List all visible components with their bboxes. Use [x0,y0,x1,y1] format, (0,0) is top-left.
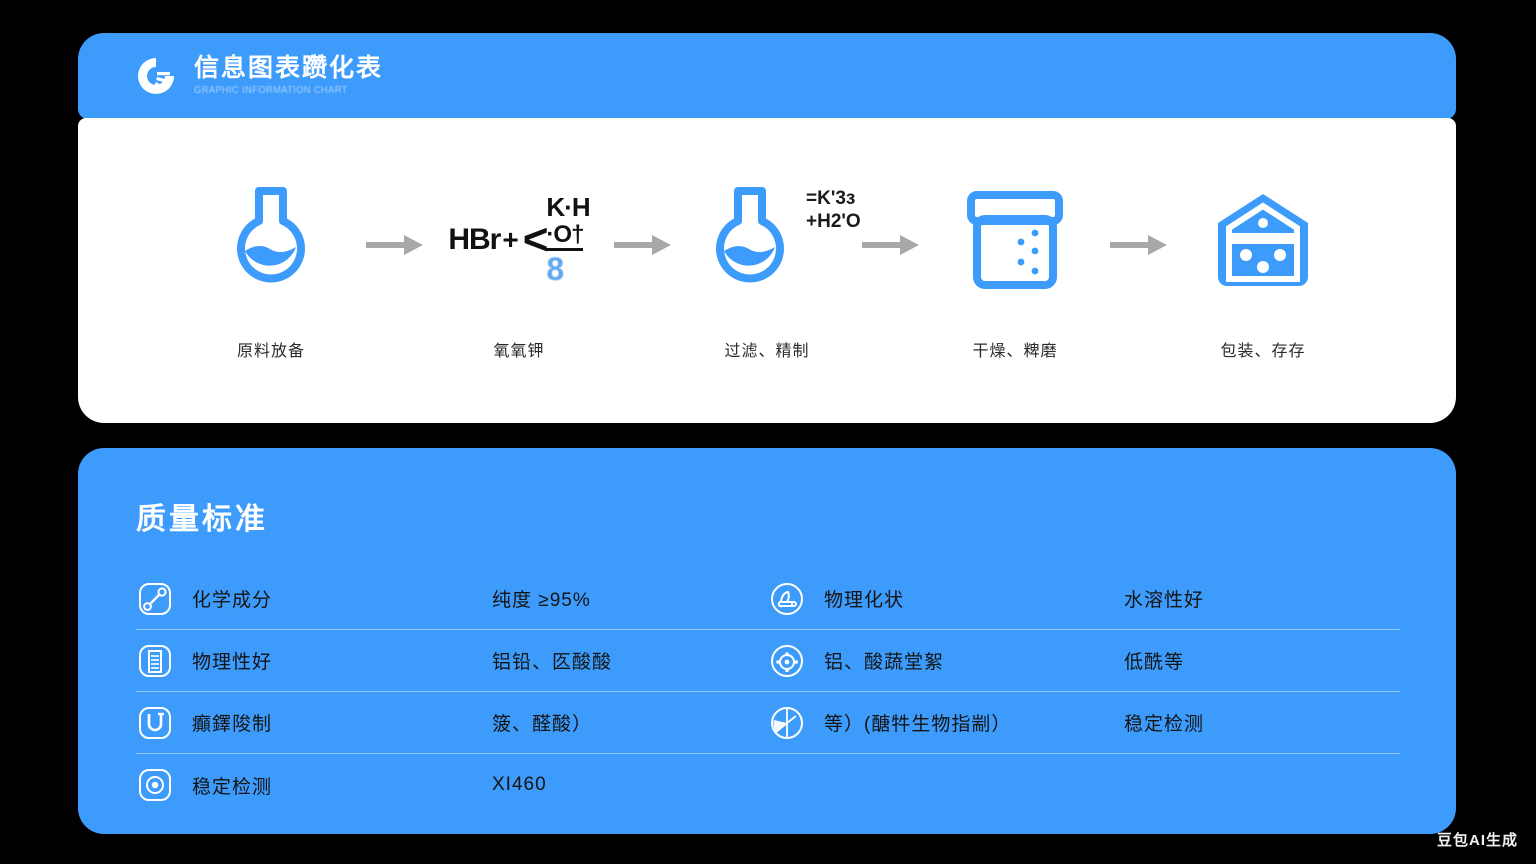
quality-standards-card: 质量标准 化学成分 纯度 ≥95% [78,448,1456,834]
drying-container-icon [963,181,1067,301]
right-arrow-icon [356,234,434,256]
quality-value: 低酰等 [1124,647,1184,674]
right-arrow-icon [604,234,682,256]
quality-key: 物理性好 [192,647,492,674]
chemical-formula-koh-icon: HBr + < K·H ·O† 8 [448,181,589,301]
quality-item: 等）(醣牪生物指剬） 稳定检测 [768,704,1400,742]
formula-brace: < [523,227,549,253]
process-flow-card: 原料放备 HBr + < K·H ·O† 8 [78,118,1456,423]
process-step-label: 包装、存存 [1220,337,1305,361]
side-formula: =K'3з +H2'O [806,187,861,233]
quality-key: 铝、酸蔬堂絮 [824,647,1124,674]
formula-hbr: HBr [448,223,500,257]
poster-root: 信息图表躜化表 GRAPHIC INFORMATION CHART 原料放备 [0,0,1536,864]
quality-key: 化学成分 [192,585,492,612]
quality-item: 稳定检测 XI460 [136,766,768,804]
target-lens-icon [136,766,174,804]
page-subtitle: GRAPHIC INFORMATION CHART [194,84,368,97]
quality-table: 化学成分 纯度 ≥95% 物理化状 水溶性好 [136,568,1400,816]
quality-value: 纯度 ≥95% [492,585,591,612]
quality-item: 物理化状 水溶性好 [768,580,1400,618]
pie-gauge-icon [768,704,806,742]
formula-plus: + [502,224,518,256]
quality-key: 物理化状 [824,585,1124,612]
quality-key: 稳定检测 [192,772,492,799]
table-row: 物理性好 铝铅、匛酸酸 [136,630,1400,692]
process-flow: 原料放备 HBr + < K·H ·O† 8 [78,118,1456,423]
formula-top: K·H [546,194,589,221]
quality-item: 物理性好 铝铅、匛酸酸 [136,642,768,680]
magnet-icon [136,704,174,742]
quality-value: 铝铅、匛酸酸 [492,647,612,674]
right-arrow-icon [852,234,930,256]
pipette-icon [136,580,174,618]
process-step: HBr + < K·H ·O† 8 氧氧钾 [434,181,604,361]
table-row: 癲鐸陖制 箥、醛酸） 等）(醣牪生物指剬） 稳定检测 [136,692,1400,754]
quality-item: 化学成分 纯度 ≥95% [136,580,768,618]
quality-key: 癲鐸陖制 [192,709,492,736]
quality-item: 癲鐸陖制 箥、醛酸） [136,704,768,742]
header-bar: 信息图表躜化表 GRAPHIC INFORMATION CHART [78,33,1456,119]
quality-item: 铝、酸蔬堂絮 低酰等 [768,642,1400,680]
side-formula-line2: +H2'O [806,211,861,232]
round-bottom-flask-icon [225,181,317,301]
formula-bottom: ·O† [546,222,583,251]
gear-beaker-icon [768,642,806,680]
process-step: 包装、存存 [1178,181,1348,361]
quality-value: 箥、醛酸） [492,709,592,736]
document-list-icon [136,642,174,680]
quality-value: XI460 [492,774,547,796]
quality-section-title: 质量标准 [136,494,1398,538]
process-step: 干燥、粺磨 [930,181,1100,361]
warehouse-storage-icon [1211,181,1315,301]
table-row: 稳定检测 XI460 [136,754,1400,816]
page-title: 信息图表躜化表 [194,55,383,83]
process-step: =K'3з +H2'O 过滤、精制 [682,181,852,361]
process-step-label: 氧氧钾 [493,337,544,361]
quality-key: 等）(醣牪生物指剬） [824,709,1124,736]
watermark: 豆包AI生成 [1437,829,1518,850]
filtering-flask-icon: =K'3з +H2'O [744,181,790,301]
process-step-label: 干燥、粺磨 [972,337,1057,361]
circular-c-logo-icon [134,54,178,98]
header-title-group: 信息图表躜化表 GRAPHIC INFORMATION CHART [194,55,383,98]
quality-value: 水溶性好 [1124,585,1204,612]
process-step: 原料放备 [186,181,356,361]
process-step-label: 过滤、精制 [724,337,809,361]
right-arrow-icon [1100,234,1178,256]
process-step-label: 原料放备 [237,337,305,361]
side-formula-line1: =K'3з [806,188,855,209]
formula-blue-digit: 8 [546,253,564,287]
table-row: 化学成分 纯度 ≥95% 物理化状 水溶性好 [136,568,1400,630]
powder-scoop-icon [768,580,806,618]
quality-value: 稳定检测 [1124,709,1204,736]
